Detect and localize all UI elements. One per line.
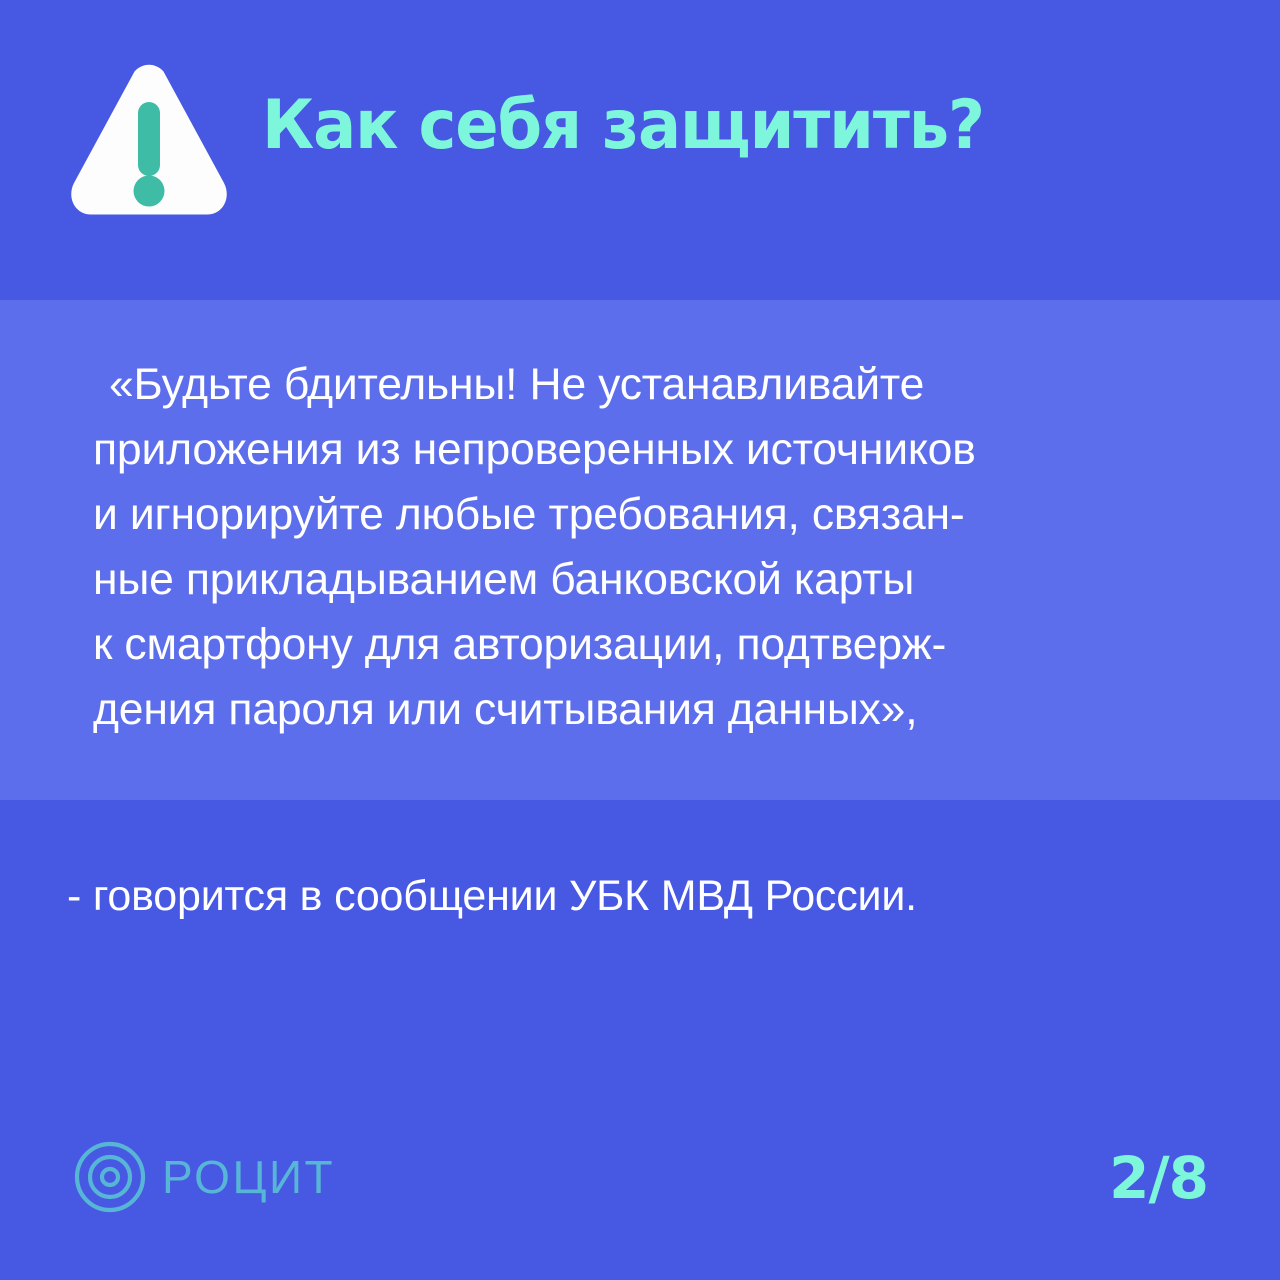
quote-line: ные прикладыванием банковской карты bbox=[93, 547, 1228, 612]
attribution-text: - говорится в сообщении УБК МВД России. bbox=[67, 868, 917, 924]
footer: РОЦИТ 2/8 bbox=[0, 1125, 1280, 1255]
slide-root: Как себя защитить? «Будьте бдительны! Не… bbox=[0, 0, 1280, 1280]
quote-line: и игнорируйте любые требования, связан- bbox=[93, 482, 1228, 547]
brand-name: РОЦИТ bbox=[162, 1152, 335, 1202]
quote-line: дения пароля или считывания данных», bbox=[93, 677, 1228, 742]
header-band: Как себя защитить? bbox=[0, 0, 1280, 300]
warning-triangle-exclamation-icon bbox=[66, 60, 232, 220]
quote-line: «Будьте бдительны! Не устанавливайте bbox=[93, 352, 1228, 417]
page-counter: 2/8 bbox=[1109, 1147, 1208, 1209]
quote-line: к смартфону для авторизации, подтверж- bbox=[93, 612, 1228, 677]
brand-logo: РОЦИТ bbox=[72, 1139, 335, 1215]
quote-band: «Будьте бдительны! Не устанавливайте при… bbox=[0, 300, 1280, 800]
concentric-circles-logo-icon bbox=[72, 1139, 148, 1215]
quote-line: приложения из непроверенных источников bbox=[93, 417, 1228, 482]
page-title: Как себя защитить? bbox=[262, 86, 984, 166]
quote-text: «Будьте бдительны! Не устанавливайте при… bbox=[93, 352, 1228, 742]
